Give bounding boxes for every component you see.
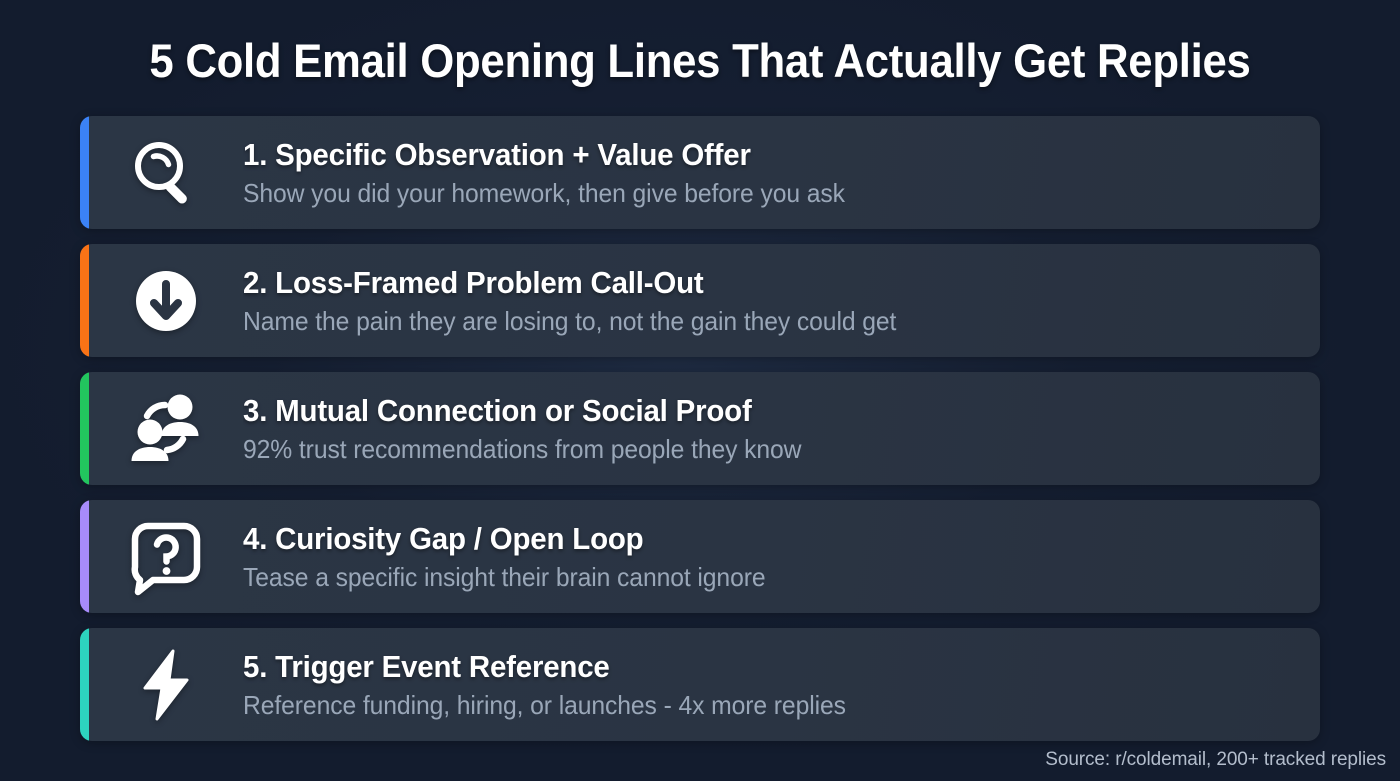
accent-bar: [80, 116, 89, 229]
list-item-subtitle: Reference funding, hiring, or launches -…: [243, 688, 1243, 722]
list-item-subtitle: Name the pain they are losing to, not th…: [243, 304, 1243, 338]
list-item-title: 1. Specific Observation + Value Offer: [243, 136, 1243, 174]
list-item-title: 5. Trigger Event Reference: [243, 648, 1243, 686]
list-item[interactable]: 5. Trigger Event Reference Reference fun…: [80, 628, 1320, 741]
list-item-text: 2. Loss-Framed Problem Call-Out Name the…: [243, 264, 1320, 338]
list-item-text: 3. Mutual Connection or Social Proof 92%…: [243, 392, 1320, 466]
source-attribution: Source: r/coldemail, 200+ tracked replie…: [1045, 748, 1386, 772]
magnifier-icon: [80, 116, 243, 229]
infographic-page: 5 Cold Email Opening Lines That Actually…: [0, 0, 1400, 781]
list-item-subtitle: 92% trust recommendations from people th…: [243, 432, 1243, 466]
list-item[interactable]: 4. Curiosity Gap / Open Loop Tease a spe…: [80, 500, 1320, 613]
list-item[interactable]: 1. Specific Observation + Value Offer Sh…: [80, 116, 1320, 229]
list-item-text: 5. Trigger Event Reference Reference fun…: [243, 648, 1320, 722]
list-item-title: 3. Mutual Connection or Social Proof: [243, 392, 1243, 430]
list-item[interactable]: 2. Loss-Framed Problem Call-Out Name the…: [80, 244, 1320, 357]
people-connection-icon: [80, 372, 243, 485]
list-item-text: 4. Curiosity Gap / Open Loop Tease a spe…: [243, 520, 1320, 594]
list-item-text: 1. Specific Observation + Value Offer Sh…: [243, 136, 1320, 210]
lightning-bolt-icon: [80, 628, 243, 741]
accent-bar: [80, 244, 89, 357]
list-item-subtitle: Show you did your homework, then give be…: [243, 176, 1243, 210]
accent-bar: [80, 628, 89, 741]
tips-list: 1. Specific Observation + Value Offer Sh…: [80, 116, 1320, 756]
list-item[interactable]: 3. Mutual Connection or Social Proof 92%…: [80, 372, 1320, 485]
list-item-title: 4. Curiosity Gap / Open Loop: [243, 520, 1243, 558]
accent-bar: [80, 372, 89, 485]
list-item-subtitle: Tease a specific insight their brain can…: [243, 560, 1243, 594]
list-item-title: 2. Loss-Framed Problem Call-Out: [243, 264, 1243, 302]
accent-bar: [80, 500, 89, 613]
page-title: 5 Cold Email Opening Lines That Actually…: [49, 32, 1351, 90]
arrow-down-circle-icon: [80, 244, 243, 357]
question-bubble-icon: [80, 500, 243, 613]
